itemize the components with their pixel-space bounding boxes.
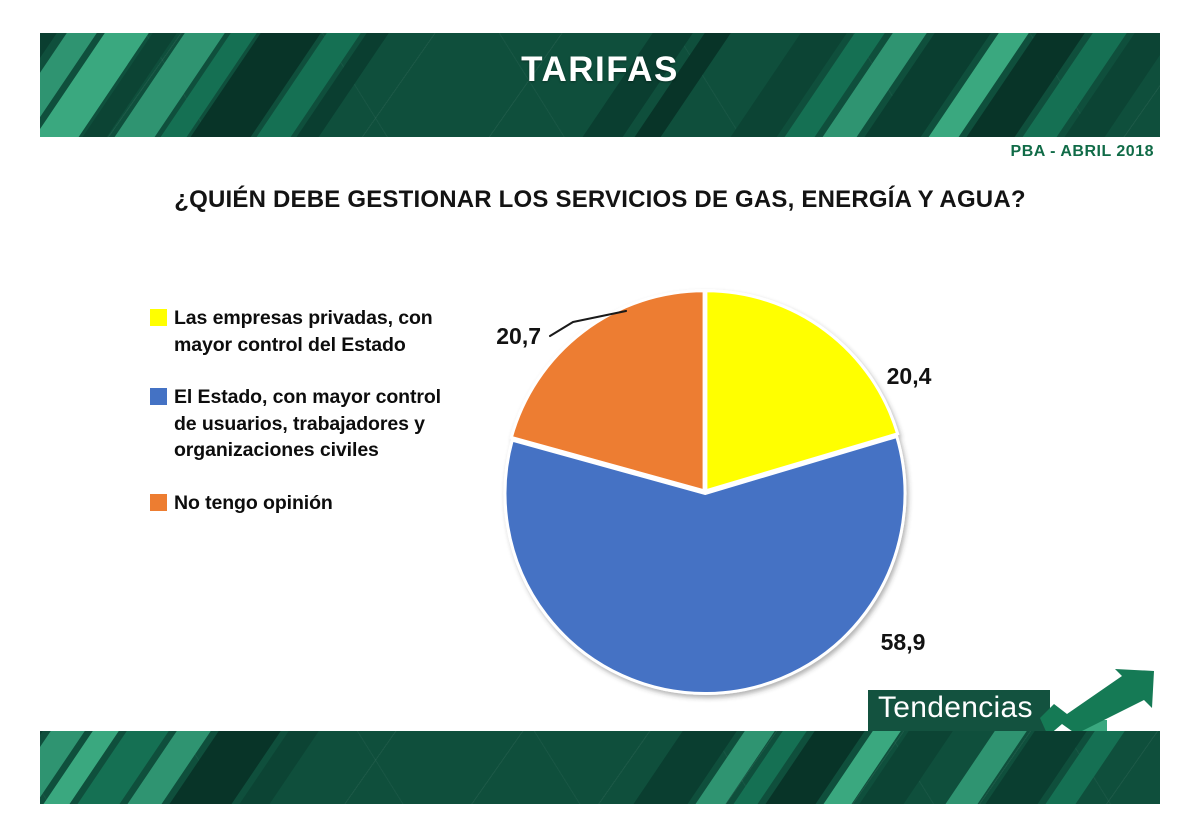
pie-value-label-empresas-privadas: 20,4 bbox=[887, 363, 932, 389]
logo-text: Tendencias bbox=[878, 691, 1033, 725]
page-title: TARIFAS bbox=[0, 50, 1200, 90]
legend-item-label: No tengo opinión bbox=[174, 490, 333, 517]
legend-swatch-icon bbox=[150, 309, 167, 326]
chart-legend: Las empresas privadas, con mayor control… bbox=[150, 305, 450, 516]
legend-swatch-icon bbox=[150, 494, 167, 511]
legend-item-el-estado[interactable]: El Estado, con mayor control de usuarios… bbox=[150, 384, 450, 464]
pie-value-label-no-tengo-opinion: 20,7 bbox=[496, 323, 541, 349]
legend-item-empresas-privadas[interactable]: Las empresas privadas, con mayor control… bbox=[150, 305, 450, 358]
footer-banner bbox=[40, 731, 1160, 804]
legend-swatch-icon bbox=[150, 388, 167, 405]
legend-item-label: El Estado, con mayor control de usuarios… bbox=[174, 384, 450, 464]
legend-item-no-tengo-opinion[interactable]: No tengo opinión bbox=[150, 490, 450, 517]
pie-chart-svg: 20,7 20,4 58,9 bbox=[455, 262, 975, 722]
pie-value-label-el-estado: 58,9 bbox=[881, 629, 926, 655]
date-label: PBA - ABRIL 2018 bbox=[1011, 143, 1154, 161]
legend-item-label: Las empresas privadas, con mayor control… bbox=[174, 305, 450, 358]
question-heading: ¿QUIÉN DEBE GESTIONAR LOS SERVICIOS DE G… bbox=[0, 186, 1200, 214]
slide-canvas: TARIFAS PBA - ABRIL 2018 ¿QUIÉN DEBE GES… bbox=[0, 0, 1200, 840]
pie-chart: 20,7 20,4 58,9 bbox=[455, 262, 975, 722]
